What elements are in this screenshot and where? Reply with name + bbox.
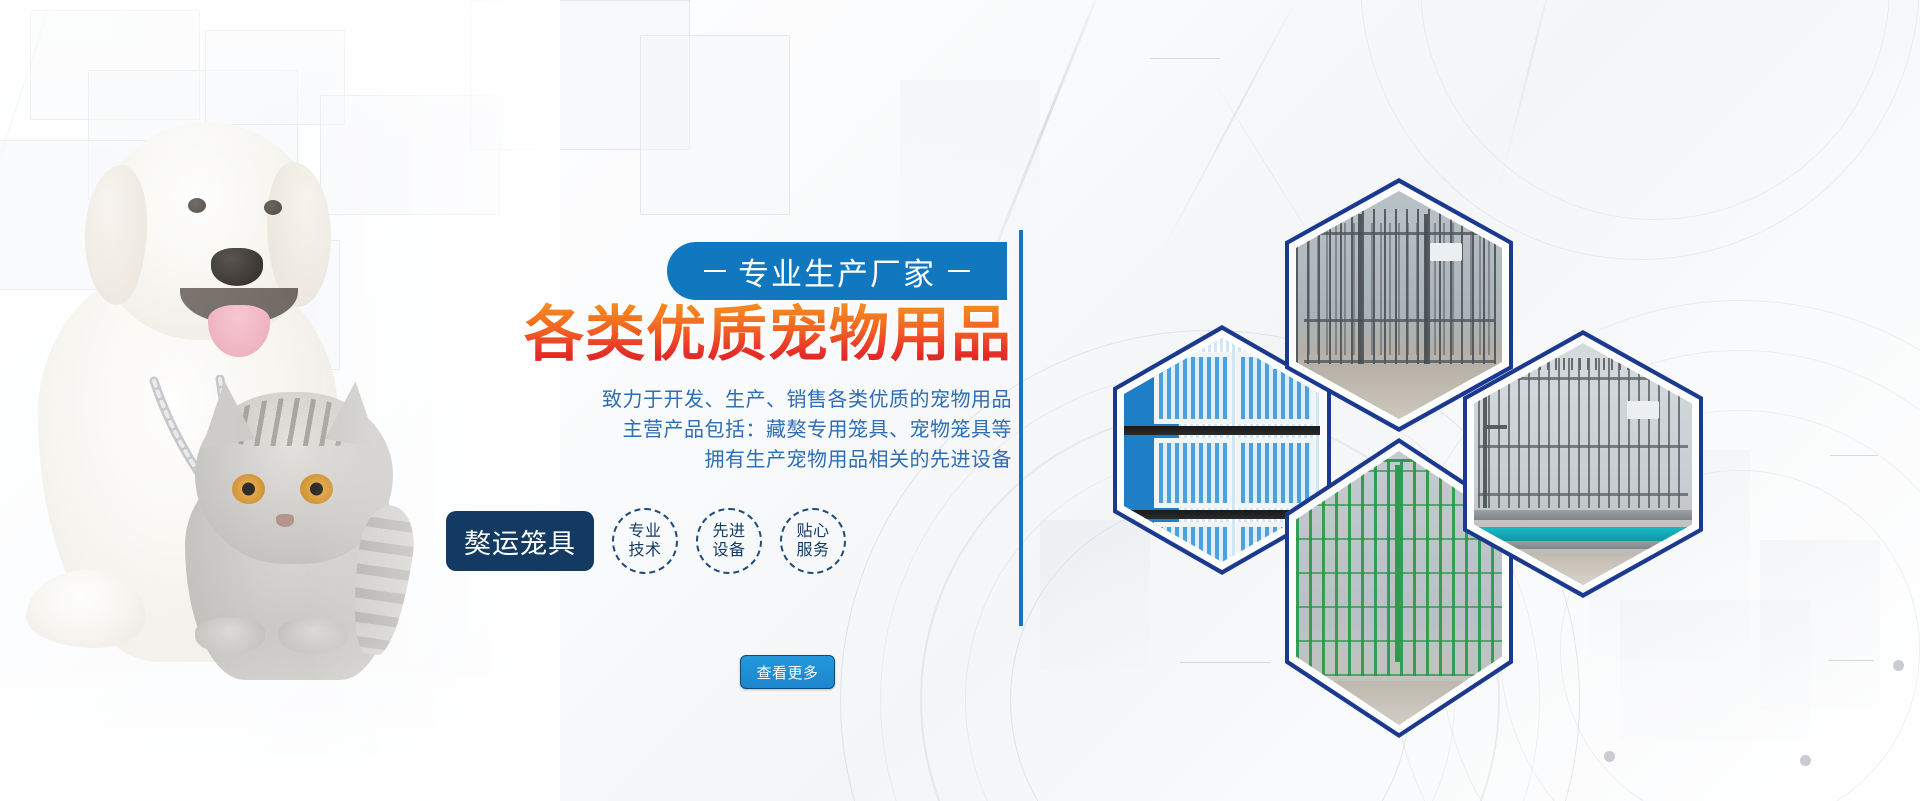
feature-line-1: 专业 [628, 522, 661, 541]
feature-line-2: 设备 [712, 541, 745, 560]
tray-edge-bottom [1474, 541, 1692, 549]
bg-connector [1830, 455, 1878, 456]
hex-inner-white [1467, 335, 1699, 593]
bg-block [1760, 540, 1880, 710]
cage-latch [1487, 425, 1507, 429]
bg-block [1620, 600, 1810, 740]
feature-line-2: 技术 [628, 541, 661, 560]
feature-circle-caring-service[interactable]: 贴心 服务 [780, 508, 846, 574]
product-hex-right[interactable] [1463, 330, 1703, 598]
feature-line-1: 贴心 [796, 522, 829, 541]
bg-connector [1180, 662, 1270, 663]
dash-left-icon [704, 270, 726, 272]
feature-circle-advanced-equipment[interactable]: 先进 设备 [696, 508, 762, 574]
vertical-divider [1019, 230, 1023, 626]
fence-rail [1304, 232, 1494, 235]
brand-pill-button[interactable]: 獒运笼具 [446, 511, 594, 571]
cage-label-tag [1627, 401, 1659, 419]
subtitle-line-2: 主营产品包括：藏獒专用笼具、宠物笼具等 [430, 415, 1012, 445]
subtitle-block: 致力于开发、生产、销售各类优质的宠物用品 主营产品包括：藏獒专用笼具、宠物笼具等… [430, 385, 1030, 475]
cage-door [1154, 522, 1232, 562]
cage-door [1154, 352, 1232, 424]
subtitle-line-1: 致力于开发、生产、销售各类优质的宠物用品 [430, 385, 1012, 415]
cage-rail [1478, 377, 1687, 380]
tagline-text: 专业生产厂家 [738, 249, 936, 294]
fence-rail [1304, 319, 1494, 322]
green-post [1395, 465, 1400, 662]
bg-diagonal-line [1159, 0, 1302, 256]
bg-connector [1150, 58, 1220, 59]
ground [1474, 556, 1692, 585]
cage-rail [1478, 493, 1687, 496]
view-more-button[interactable]: 查看更多 [740, 655, 835, 689]
fence-label-tag [1430, 243, 1462, 261]
bg-diagonal-line [1497, 0, 1562, 193]
feature-row: 獒运笼具 专业 技术 先进 设备 贴心 服务 [430, 508, 1030, 574]
bg-connector [1828, 660, 1874, 661]
cage-wire-bars [1478, 358, 1687, 508]
feature-line-1: 先进 [712, 522, 745, 541]
hero-banner: 专业生产厂家 各类优质宠物用品 致力于开发、生产、销售各类优质的宠物用品 主营产… [0, 0, 1920, 801]
cage-door-frame [1483, 382, 1487, 508]
blue-tray [1478, 527, 1687, 541]
page-title: 各类优质宠物用品 [430, 300, 1030, 371]
subtitle-line-3: 拥有生产宠物用品相关的先进设备 [430, 445, 1012, 475]
fence-post [1358, 214, 1362, 364]
dash-right-icon [948, 270, 970, 272]
hex-border [1463, 330, 1703, 598]
feature-circle-professional-tech[interactable]: 专业 技术 [612, 508, 678, 574]
cage-rail [1478, 445, 1687, 448]
fence-post [1424, 214, 1428, 364]
hero-text-column: 专业生产厂家 各类优质宠物用品 致力于开发、生产、销售各类优质的宠物用品 主营产… [430, 0, 1030, 801]
ground [1296, 681, 1502, 725]
bg-node-dot [1893, 660, 1904, 671]
tray-edge-top [1474, 510, 1692, 520]
bg-node-dot [1800, 755, 1811, 766]
bg-node-dot [1604, 751, 1615, 762]
cage-door [1154, 438, 1232, 508]
feature-line-2: 服务 [796, 541, 829, 560]
product-image-wire-cage [1474, 343, 1692, 585]
tagline-pill: 专业生产厂家 [667, 242, 1007, 300]
